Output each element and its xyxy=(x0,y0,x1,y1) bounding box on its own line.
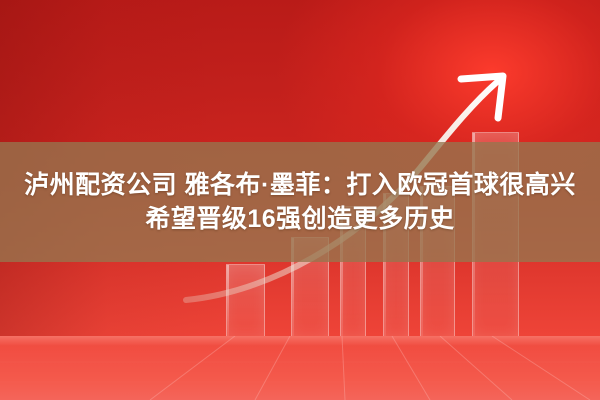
perspective-floor xyxy=(0,336,600,400)
bar-1 xyxy=(226,264,265,336)
news-banner: 泸州配资公司 雅各布·墨菲：打入欧冠首球很高兴 希望晋级16强创造更多历史 xyxy=(0,0,600,400)
headline-line-2: 希望晋级16强创造更多历史 xyxy=(145,205,454,233)
headline-line-1: 泸州配资公司 雅各布·墨菲：打入欧冠首球很高兴 xyxy=(24,171,576,199)
floor-grid xyxy=(0,336,600,400)
headline: 泸州配资公司 雅各布·墨菲：打入欧冠首球很高兴 希望晋级16强创造更多历史 xyxy=(0,142,600,262)
